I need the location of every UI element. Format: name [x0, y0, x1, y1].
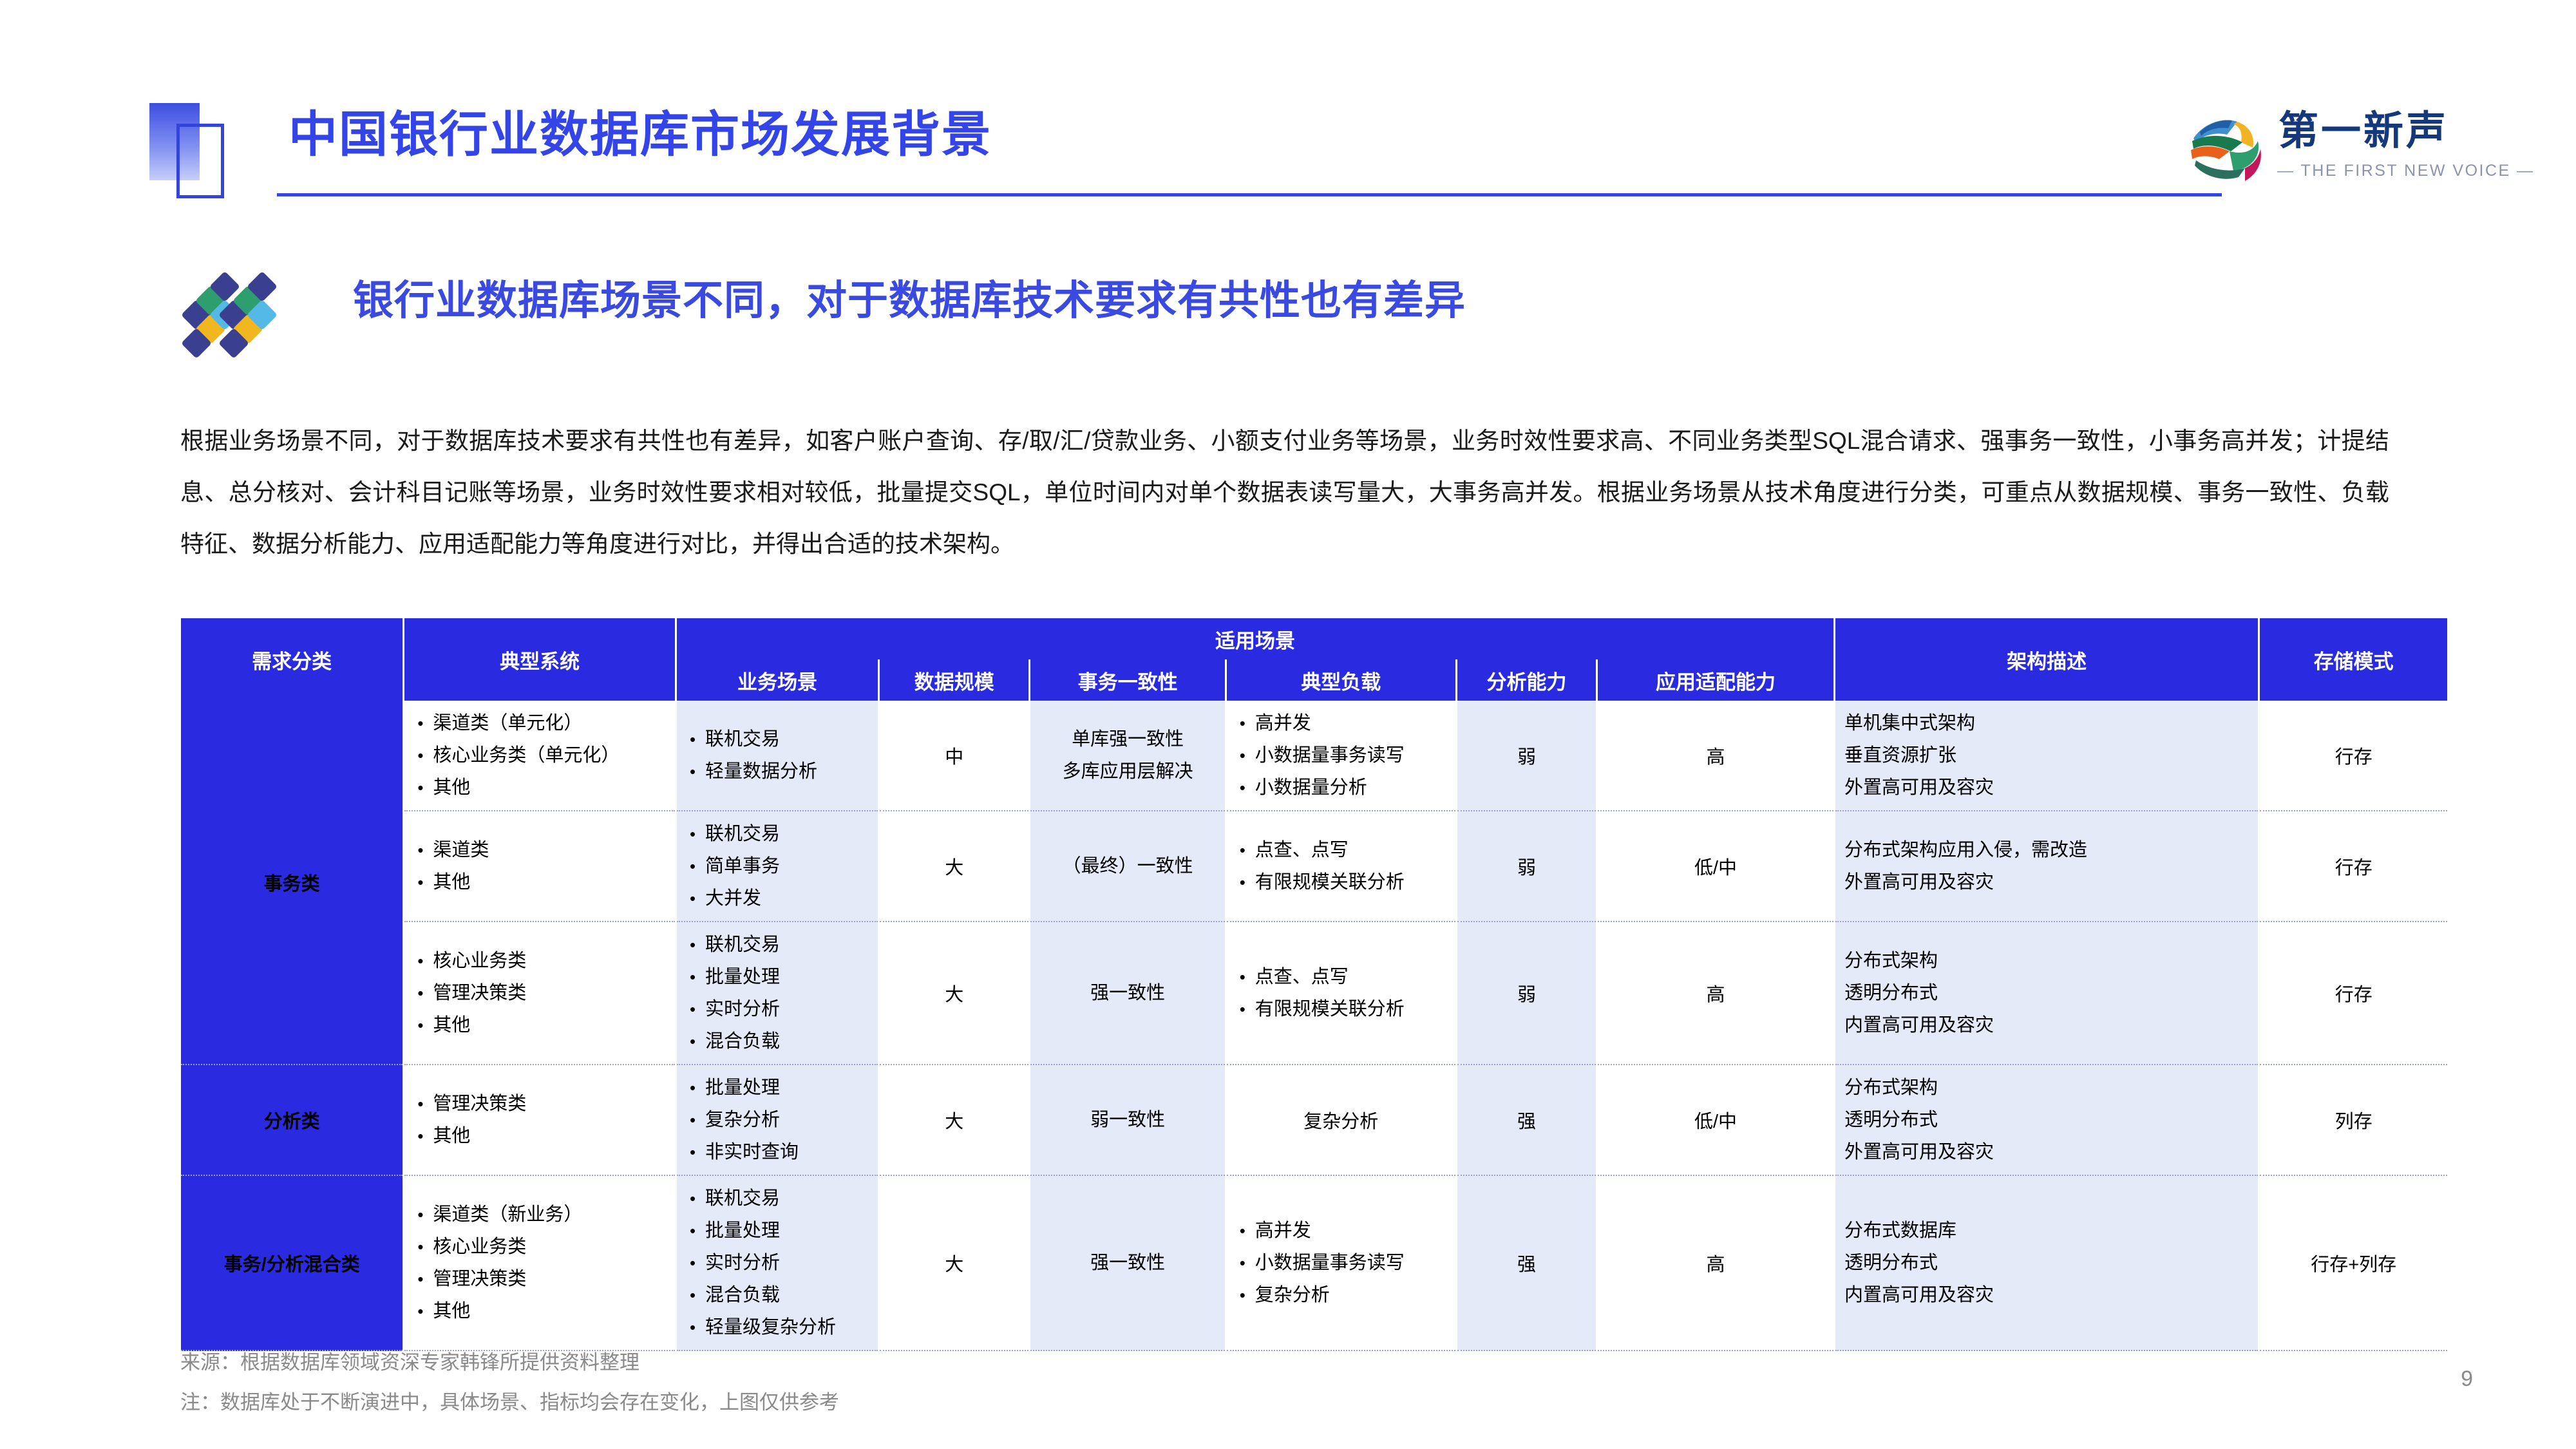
list-item: 管理决策类 [433, 977, 666, 1009]
slide-header: 中国银行业数据库市场发展背景 第一新声 — THE FIRST NEW VOIC… [0, 0, 2576, 213]
requirements-matrix-table: 需求分类 典型系统 适用场景 架构描述 存储模式 业务场景 数据规模 事务一致性… [179, 618, 2449, 1351]
header-divider [277, 193, 2222, 196]
list-item: 核心业务类 [433, 945, 666, 977]
th-applicable-scenario: 适用场景 [677, 618, 1833, 659]
cell-application-adaptation: 低/中 [1598, 811, 1833, 922]
cell-data-scale: 大 [880, 1176, 1028, 1351]
list-item: 管理决策类 [433, 1088, 666, 1120]
list-item: 实时分析 [705, 993, 869, 1025]
table-row: 事务类渠道类（单元化）核心业务类（单元化）其他联机交易轻量数据分析中单库强一致性… [181, 701, 2447, 811]
footer-note: 注：数据库处于不断演进中，具体场景、指标均会存在变化，上图仅供参考 [180, 1383, 2112, 1423]
table-row: 渠道类其他联机交易简单事务大并发大（最终）一致性点查、点写有限规模关联分析弱低/… [181, 811, 2447, 922]
list-item: 轻量级复杂分析 [705, 1311, 869, 1343]
cell-typical-system: 管理决策类其他 [404, 1065, 675, 1176]
th-demand-category: 需求分类 [181, 618, 402, 701]
list-item: 联机交易 [705, 818, 869, 850]
list-item: 小数据量分析 [1255, 772, 1446, 804]
cell-transaction-consistency: 单库强一致性多库应用层解决 [1030, 701, 1224, 811]
diamond-grid-icon [180, 264, 309, 367]
table-row: 分析类管理决策类其他批量处理复杂分析非实时查询大弱一致性复杂分析强低/中分布式架… [181, 1065, 2447, 1176]
th-transaction-consistency: 事务一致性 [1030, 659, 1224, 701]
cell-typical-system: 渠道类其他 [404, 811, 675, 922]
list-item: 简单事务 [705, 850, 869, 882]
list-item: 其他 [433, 772, 666, 804]
cell-transaction-consistency: 强一致性 [1030, 1176, 1224, 1351]
cell-storage-mode: 行存+列存 [2260, 1176, 2447, 1351]
list-item: 轻量数据分析 [705, 755, 869, 788]
list-item: 其他 [433, 1009, 666, 1041]
cell-architecture-description: 分布式架构透明分布式内置高可用及容灾 [1835, 922, 2258, 1065]
table-body: 事务类渠道类（单元化）核心业务类（单元化）其他联机交易轻量数据分析中单库强一致性… [181, 701, 2447, 1351]
cell-analysis-capability: 弱 [1457, 701, 1596, 811]
cell-analysis-capability: 弱 [1457, 922, 1596, 1065]
cell-analysis-capability: 弱 [1457, 811, 1596, 922]
list-item: 其他 [433, 866, 666, 898]
list-item: 点查、点写 [1255, 961, 1446, 993]
cell-typical-load: 高并发小数据量事务读写复杂分析 [1227, 1176, 1455, 1351]
intro-paragraph-text: 根据业务场景不同，对于数据库技术要求有共性也有差异，如客户账户查询、存/取/汇/… [180, 415, 2389, 570]
list-item: 批量处理 [705, 1072, 869, 1104]
cell-architecture-description: 单机集中式架构垂直资源扩张外置高可用及容灾 [1835, 701, 2258, 811]
cell-data-scale: 大 [880, 1065, 1028, 1176]
list-item: 小数据量事务读写 [1255, 1247, 1446, 1279]
swirl-logo-icon [2183, 105, 2268, 190]
cell-business-scenario: 联机交易简单事务大并发 [677, 811, 878, 922]
list-item: 批量处理 [705, 1215, 869, 1247]
cell-storage-mode: 行存 [2260, 701, 2447, 811]
header-decoration-mark [149, 103, 227, 198]
list-item: 复杂分析 [705, 1104, 869, 1136]
cell-application-adaptation: 高 [1598, 701, 1833, 811]
table-row: 核心业务类管理决策类其他联机交易批量处理实时分析混合负载大强一致性点查、点写有限… [181, 922, 2447, 1065]
cell-business-scenario: 联机交易批量处理实时分析混合负载 [677, 922, 878, 1065]
cell-application-adaptation: 低/中 [1598, 1065, 1833, 1176]
cell-typical-load: 复杂分析 [1227, 1065, 1455, 1176]
th-business-scenario: 业务场景 [677, 659, 878, 701]
list-item: 其他 [433, 1295, 666, 1327]
cell-business-scenario: 批量处理复杂分析非实时查询 [677, 1065, 878, 1176]
list-item: 实时分析 [705, 1247, 869, 1279]
section-subtitle: 银行业数据库场景不同，对于数据库技术要求有共性也有差异 [353, 281, 1466, 321]
th-analysis-capability: 分析能力 [1457, 659, 1596, 701]
cell-business-scenario: 联机交易批量处理实时分析混合负载轻量级复杂分析 [677, 1176, 878, 1351]
list-item: 核心业务类（单元化） [433, 739, 666, 772]
th-architecture-description: 架构描述 [1835, 618, 2258, 701]
cell-architecture-description: 分布式架构透明分布式外置高可用及容灾 [1835, 1065, 2258, 1176]
cell-typical-load: 点查、点写有限规模关联分析 [1227, 811, 1455, 922]
cell-application-adaptation: 高 [1598, 922, 1833, 1065]
th-storage-mode: 存储模式 [2260, 618, 2447, 701]
list-item: 管理决策类 [433, 1263, 666, 1295]
slide-footer: 来源：根据数据库领域资深专家韩锋所提供资料整理 注：数据库处于不断演进中，具体场… [180, 1343, 2112, 1423]
list-item: 联机交易 [705, 723, 869, 755]
cell-business-scenario: 联机交易轻量数据分析 [677, 701, 878, 811]
cell-architecture-description: 分布式数据库透明分布式内置高可用及容灾 [1835, 1176, 2258, 1351]
cell-application-adaptation: 高 [1598, 1176, 1833, 1351]
list-item: 大并发 [705, 882, 869, 914]
cell-typical-load: 高并发小数据量事务读写小数据量分析 [1227, 701, 1455, 811]
cell-typical-system: 核心业务类管理决策类其他 [404, 922, 675, 1065]
th-typical-system: 典型系统 [404, 618, 675, 701]
cell-transaction-consistency: 强一致性 [1030, 922, 1224, 1065]
list-item: 高并发 [1255, 707, 1446, 739]
cell-data-scale: 中 [880, 701, 1028, 811]
list-item: 核心业务类 [433, 1231, 666, 1263]
intro-paragraph: 根据业务场景不同，对于数据库技术要求有共性也有差异，如客户账户查询、存/取/汇/… [180, 415, 2389, 570]
cell-transaction-consistency: （最终）一致性 [1030, 811, 1224, 922]
table-row: 事务/分析混合类渠道类（新业务）核心业务类管理决策类其他联机交易批量处理实时分析… [181, 1176, 2447, 1351]
page-title: 中国银行业数据库市场发展背景 [289, 111, 992, 160]
cell-typical-system: 渠道类（新业务）核心业务类管理决策类其他 [404, 1176, 675, 1351]
list-item: 渠道类 [433, 834, 666, 866]
list-item: 渠道类（单元化） [433, 707, 666, 739]
cell-storage-mode: 行存 [2260, 811, 2447, 922]
outline-square-icon [176, 124, 224, 198]
cell-typical-load: 点查、点写有限规模关联分析 [1227, 922, 1455, 1065]
list-item: 复杂分析 [1255, 1279, 1446, 1311]
list-item: 联机交易 [705, 1182, 869, 1215]
brand-logo: 第一新声 — THE FIRST NEW VOICE — [2183, 100, 2486, 196]
cell-analysis-capability: 强 [1457, 1176, 1596, 1351]
cell-storage-mode: 列存 [2260, 1065, 2447, 1176]
logo-name-cn: 第一新声 [2278, 106, 2448, 156]
row-category-cell: 事务/分析混合类 [181, 1176, 402, 1351]
row-category-cell: 事务类 [181, 701, 402, 1065]
cell-data-scale: 大 [880, 922, 1028, 1065]
footer-source: 来源：根据数据库领域资深专家韩锋所提供资料整理 [180, 1343, 2112, 1383]
th-typical-load: 典型负载 [1227, 659, 1455, 701]
list-item: 非实时查询 [705, 1136, 869, 1168]
page-number: 9 [2461, 1367, 2473, 1392]
list-item: 小数据量事务读写 [1255, 739, 1446, 772]
section-subtitle-row: 银行业数据库场景不同，对于数据库技术要求有共性也有差异 [180, 264, 2370, 367]
list-item: 高并发 [1255, 1215, 1446, 1247]
th-application-adaptation: 应用适配能力 [1598, 659, 1833, 701]
logo-name-en: — THE FIRST NEW VOICE — [2277, 162, 2535, 180]
cell-storage-mode: 行存 [2260, 922, 2447, 1065]
list-item: 批量处理 [705, 961, 869, 993]
cell-transaction-consistency: 弱一致性 [1030, 1065, 1224, 1176]
cell-analysis-capability: 强 [1457, 1065, 1596, 1176]
list-item: 联机交易 [705, 929, 869, 961]
cell-architecture-description: 分布式架构应用入侵，需改造外置高可用及容灾 [1835, 811, 2258, 922]
cell-typical-system: 渠道类（单元化）核心业务类（单元化）其他 [404, 701, 675, 811]
cell-data-scale: 大 [880, 811, 1028, 922]
list-item: 混合负载 [705, 1279, 869, 1311]
row-category-cell: 分析类 [181, 1065, 402, 1176]
list-item: 混合负载 [705, 1025, 869, 1057]
th-data-scale: 数据规模 [880, 659, 1028, 701]
list-item: 有限规模关联分析 [1255, 866, 1446, 898]
list-item: 其他 [433, 1120, 666, 1152]
list-item: 渠道类（新业务） [433, 1198, 666, 1231]
list-item: 点查、点写 [1255, 834, 1446, 866]
list-item: 有限规模关联分析 [1255, 993, 1446, 1025]
